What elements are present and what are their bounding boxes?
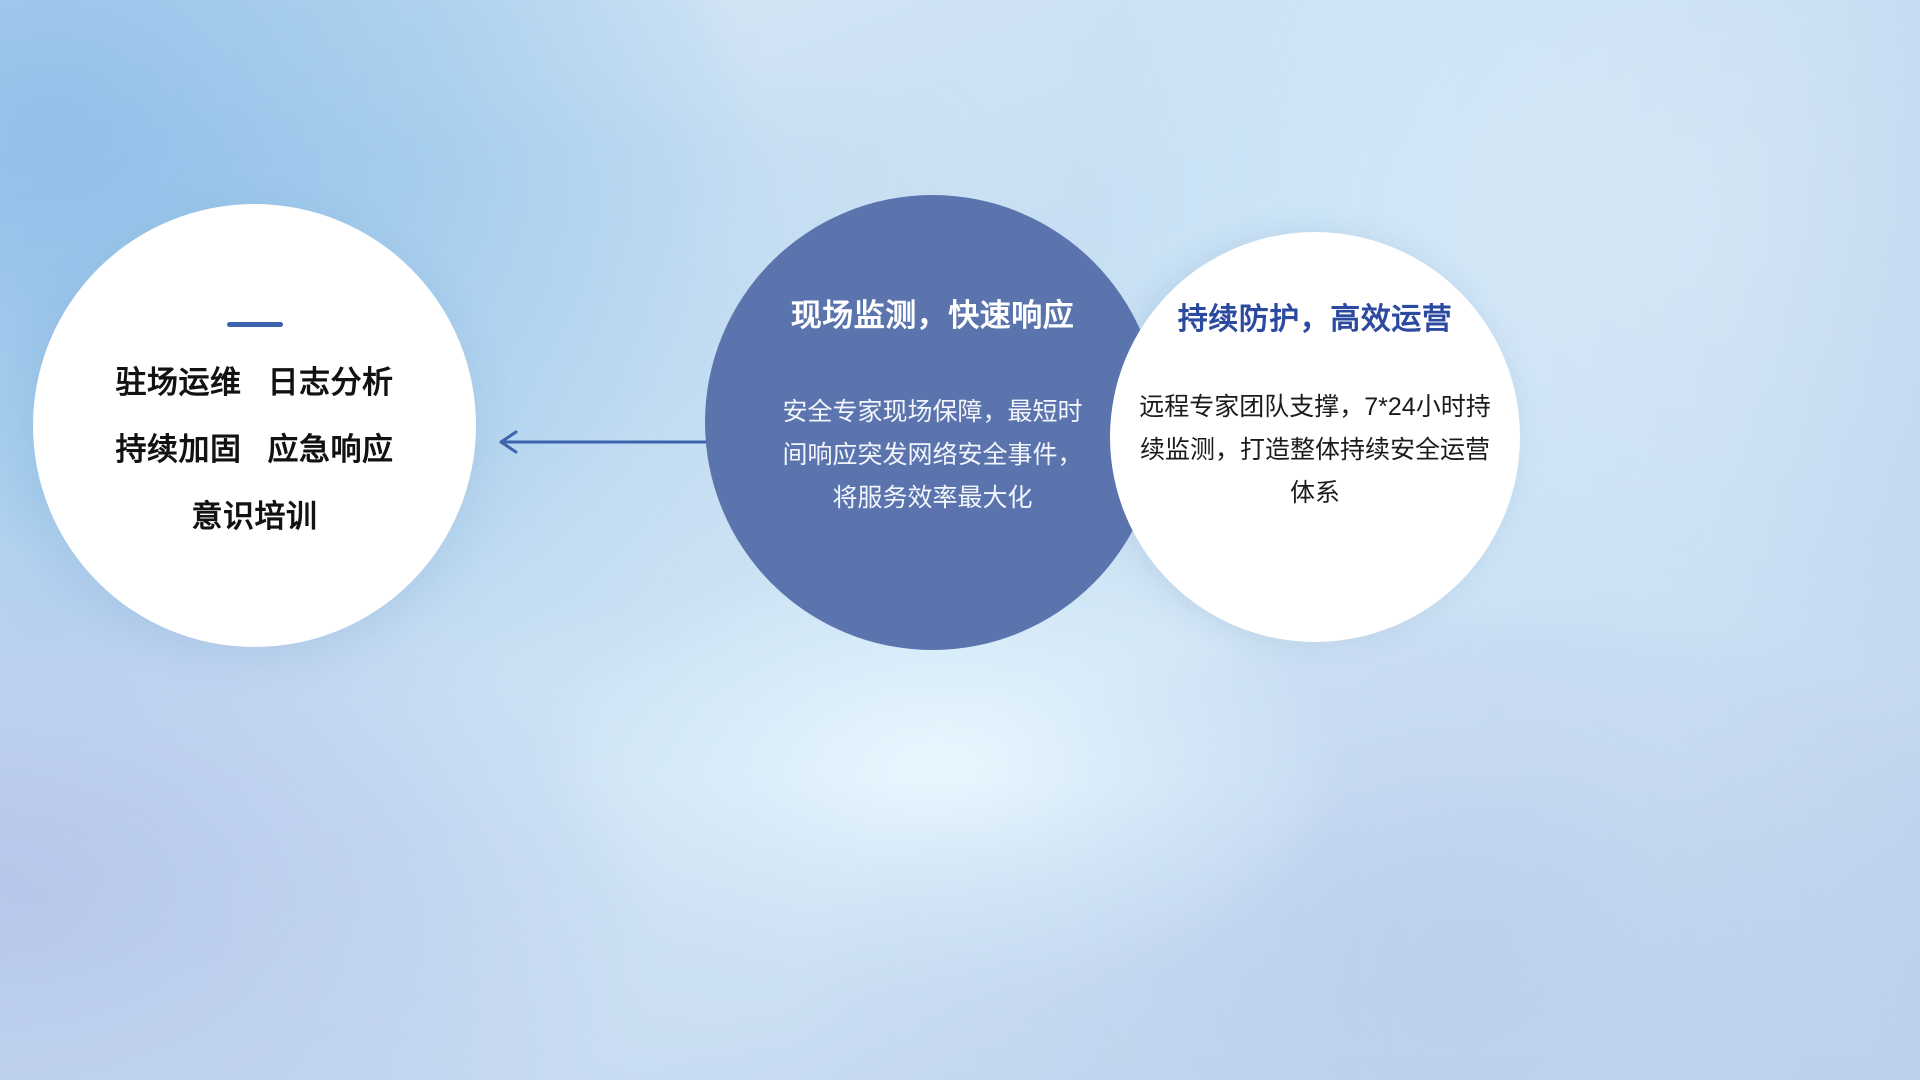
background-overlay-bottom	[0, 780, 1920, 1080]
capability-label: 意识培训	[192, 499, 318, 534]
capability-list: 驻场运维日志分析 持续加固应急响应 意识培训	[116, 357, 394, 536]
arrow-connector-icon	[490, 412, 720, 472]
slide-canvas: 驻场运维日志分析 持续加固应急响应 意识培训 现场监测，快速响应 安全专家现场保…	[0, 0, 1920, 1080]
capability-label: 持续加固	[116, 432, 242, 467]
list-item: 驻场运维日志分析	[116, 357, 394, 402]
continuous-body: 远程专家团队支撑，7*24小时持续监测，打造整体持续安全运营体系	[1135, 386, 1495, 515]
list-item: 持续加固应急响应	[116, 424, 394, 469]
capability-label: 应急响应	[268, 432, 394, 467]
onsite-title: 现场监测，快速响应	[791, 290, 1075, 335]
continuous-protection-circle: 持续防护，高效运营 远程专家团队支撑，7*24小时持续监测，打造整体持续安全运营…	[1110, 232, 1520, 642]
capabilities-circle: 驻场运维日志分析 持续加固应急响应 意识培训	[33, 204, 476, 647]
list-item: 意识培训	[192, 491, 318, 536]
capability-label: 日志分析	[268, 365, 394, 400]
divider-dash	[227, 322, 283, 327]
continuous-title: 持续防护，高效运营	[1178, 294, 1453, 338]
capability-label: 驻场运维	[116, 365, 242, 400]
onsite-body: 安全专家现场保障，最短时间响应突发网络安全事件，将服务效率最大化	[783, 391, 1083, 520]
onsite-monitoring-circle: 现场监测，快速响应 安全专家现场保障，最短时间响应突发网络安全事件，将服务效率最…	[705, 195, 1160, 650]
